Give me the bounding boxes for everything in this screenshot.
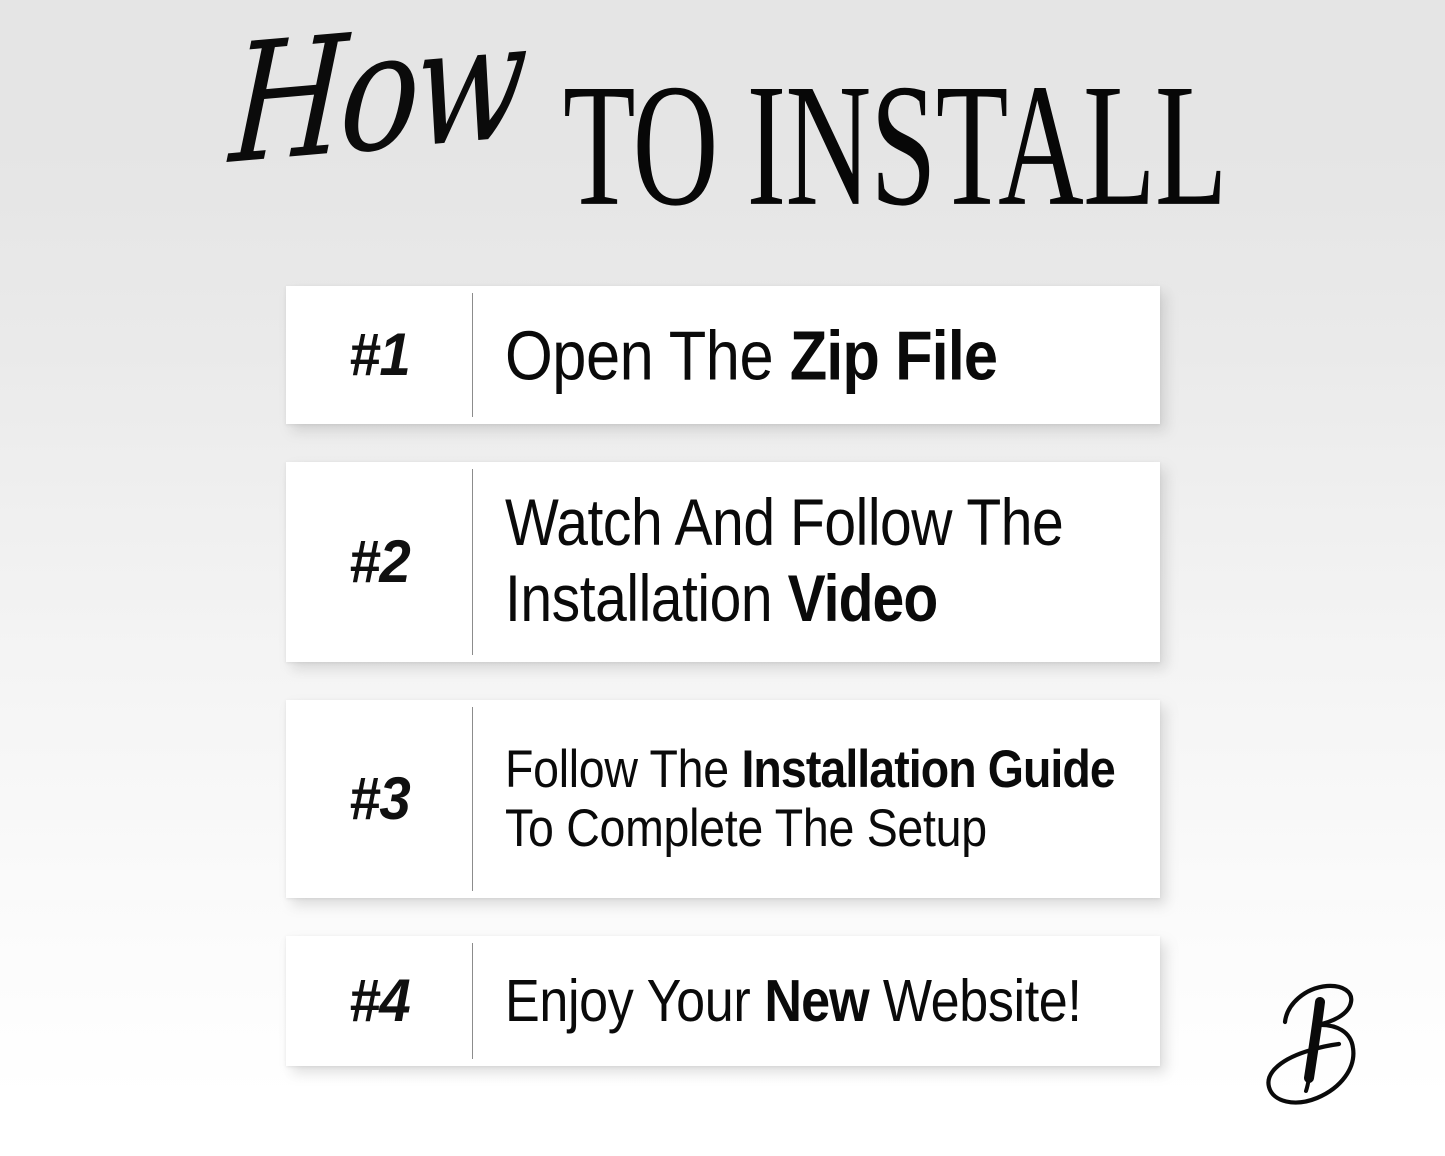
step-text-normal: Open The [505, 316, 790, 394]
step-number: #1 [349, 325, 410, 385]
step-text-line: Enjoy Your New Website! [505, 970, 1101, 1032]
step-number-cell: #3 [286, 700, 473, 898]
step-text-bold: Zip File [790, 316, 997, 394]
step-card: #4 Enjoy Your New Website! [286, 936, 1160, 1066]
brand-signature-b-icon [1243, 960, 1393, 1120]
step-text-normal: Watch And Follow The [505, 487, 1063, 560]
poster-canvas: How TO INSTALL #1 Open The Zip File #2 W… [0, 0, 1445, 1156]
step-number-cell: #2 [286, 462, 473, 662]
step-card: #2 Watch And Follow The Installation Vid… [286, 462, 1160, 662]
step-number-cell: #4 [286, 936, 473, 1066]
step-text-cell: Open The Zip File [473, 286, 1160, 424]
page-title: How TO INSTALL [0, 52, 1445, 232]
step-text-normal: Installation [505, 563, 788, 636]
step-text-line: Installation Video [505, 560, 1095, 640]
steps-list: #1 Open The Zip File #2 Watch And Follow… [286, 286, 1160, 1066]
step-card: #3 Follow The Installation Guide To Comp… [286, 700, 1160, 898]
step-text-bold: Installation Guide [741, 739, 1114, 798]
step-text-bold: Video [788, 563, 938, 636]
step-number-cell: #1 [286, 286, 473, 424]
step-text-bold: New [764, 967, 868, 1034]
step-text-normal: Follow The [505, 739, 741, 798]
step-text-normal: To Complete The Setup [505, 798, 987, 857]
step-text-normal: Enjoy Your [505, 967, 764, 1034]
step-text-cell: Follow The Installation Guide To Complet… [473, 700, 1175, 898]
step-text-line: Open The Zip File [505, 320, 1101, 390]
step-number: #4 [349, 971, 410, 1031]
step-text-cell: Enjoy Your New Website! [473, 936, 1160, 1066]
step-number: #3 [349, 769, 410, 829]
step-text-line: To Complete The Setup [505, 797, 1115, 860]
step-number: #2 [349, 532, 410, 592]
title-script-word: How [227, 0, 526, 188]
step-text-cell: Watch And Follow The Installation Video [473, 462, 1160, 662]
step-card: #1 Open The Zip File [286, 286, 1160, 424]
step-text-line: Follow The Installation Guide [505, 738, 1115, 801]
title-main-word: TO INSTALL [563, 58, 1227, 233]
step-text-line: Watch And Follow The [505, 484, 1095, 564]
step-text-tail: Website! [869, 967, 1082, 1034]
